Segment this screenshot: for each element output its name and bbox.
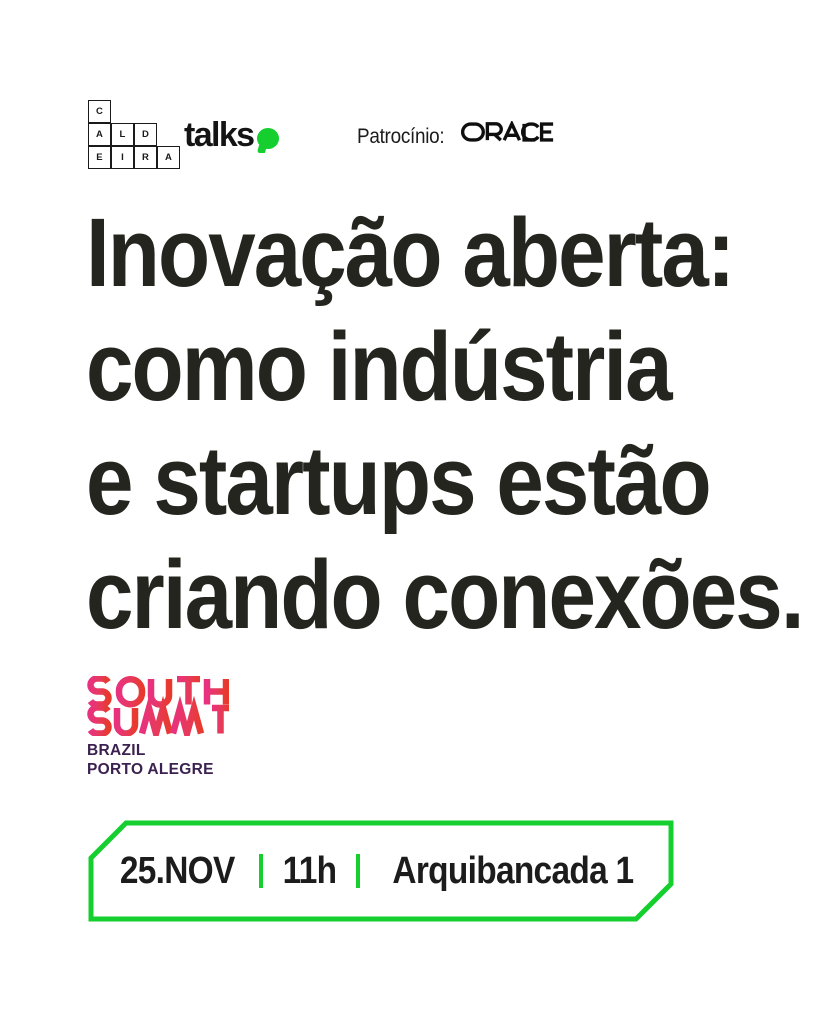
caldeira-cell-r: R	[134, 146, 157, 169]
oracle-logo-svg	[460, 121, 556, 143]
headline-line-3: e startups estão	[86, 424, 702, 538]
caldeira-cell-a1: A	[88, 123, 111, 146]
info-banner: 25.NOV 11h Arquibancada 1	[88, 820, 674, 922]
south-summit-location: BRAZIL PORTO ALEGRE	[87, 742, 229, 779]
caldeira-cell-a2: A	[157, 146, 180, 169]
talks-logo: talks	[184, 118, 279, 152]
sponsor-label: Patrocínio:	[357, 125, 444, 149]
talks-wordmark: talks	[184, 118, 254, 152]
caldeira-cell-c: C	[88, 100, 111, 123]
oracle-logo	[460, 121, 556, 147]
caldeira-cell-e: E	[88, 146, 111, 169]
south-summit-logo	[87, 676, 229, 736]
caldeira-cell-l: L	[111, 123, 134, 146]
event-time: 11h	[282, 852, 336, 890]
headline-line-1: Inovação aberta:	[86, 196, 702, 310]
poster-canvas: C A L D E I R A talks Patrocínio:	[0, 0, 819, 1024]
south-summit-city: PORTO ALEGRE	[87, 761, 229, 780]
event-date: 25.NOV	[120, 852, 235, 890]
speech-bubble-icon	[257, 128, 279, 149]
caldeira-logo: C A L D E I R A	[88, 100, 162, 170]
sponsor-block: Patrocínio:	[357, 121, 556, 149]
caldeira-cell-i: I	[111, 146, 134, 169]
banner-content: 25.NOV 11h Arquibancada 1	[88, 820, 674, 922]
headline-line-2: como indústria	[86, 310, 702, 424]
caldeira-cell-d: D	[134, 123, 157, 146]
south-summit-country: BRAZIL	[87, 742, 229, 761]
south-summit-lockup: BRAZIL PORTO ALEGRE	[87, 676, 229, 779]
headline-line-4: criando conexões.	[86, 538, 702, 652]
header-logo-row: C A L D E I R A talks Patrocínio:	[88, 98, 556, 172]
banner-separator-2	[356, 854, 360, 888]
event-location: Arquibancada 1	[392, 852, 633, 890]
headline: Inovação aberta: como indústria e startu…	[86, 196, 786, 652]
banner-separator-1	[259, 854, 263, 888]
